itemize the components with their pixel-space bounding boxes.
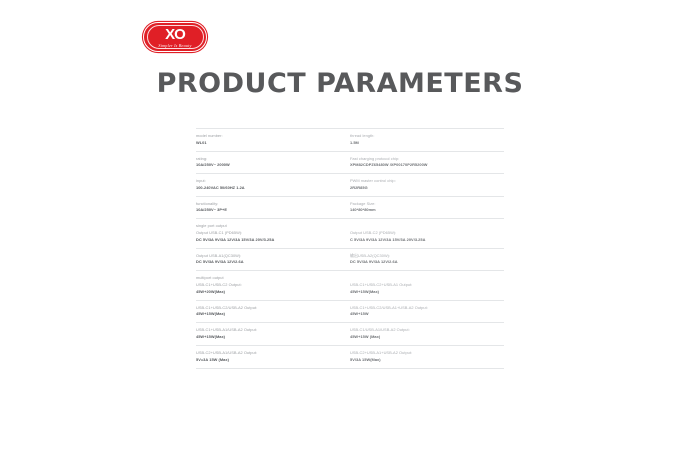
spec-label: USB-C1+USB-C2/USB-A2 Output:	[196, 305, 346, 312]
brand-logo: XO Simpler Is Beauty	[143, 22, 207, 52]
spec-label: Fast charging protocol chip:	[350, 156, 500, 163]
spec-value: C 5V/3A 9V/3A 12V/3A 15V/3A 20V/3.25A	[350, 237, 500, 244]
spec-cell-left: USB-C1+USB-C2 Output: 45W+20W(Max)	[196, 282, 350, 295]
spec-cell-left: Output USB-C1 (PD65W): DC 5V/3A 9V/3A 12…	[196, 230, 350, 243]
spec-value: 10A/250V~ 3P+E	[196, 207, 346, 214]
table-row: USB-C2+USB-A1/USB-A2 Output: 5V=3A 15W (…	[196, 346, 504, 369]
spec-cell-right: 输出USB-A2(QC30W): DC 5V/3A 9V/3A 12V/2.6A	[350, 253, 504, 266]
spec-value: 45W+20W(Max)	[196, 289, 346, 296]
spec-cell-left: Output USB-A1(QC30W): DC 5V/3A 9V/3A 12V…	[196, 253, 350, 266]
spec-cell-left: rating: 10A/250V~ 2000W	[196, 156, 350, 169]
spec-label: USB-C2+USB-A1/USB-A2 Output:	[196, 350, 346, 357]
section-heading-single-port: single port output	[196, 223, 504, 229]
spec-cell-left: functionality: 10A/250V~ 3P+E	[196, 201, 350, 214]
table-row: input: 100-240VAC 50/60HZ 1.2A PWM maste…	[196, 174, 504, 197]
spec-value: DC 5V/3A 9V/3A 12V/2.6A	[196, 259, 346, 266]
spec-label: Output USB-C1 (PD65W):	[196, 230, 346, 237]
spec-value: 5V/3A 15W(Max)	[350, 357, 500, 364]
spec-value: 1.5M	[350, 140, 500, 147]
spec-label: USB-C1+USB-C2/USB-A1+USB-A2 Output:	[350, 305, 500, 312]
spec-cell-right: Package Size: 140*80*80mm	[350, 201, 504, 214]
spec-cell-left: input: 100-240VAC 50/60HZ 1.2A	[196, 178, 350, 191]
spec-value: XPM82CDPZ65480W /XP00170P2R5200W	[350, 162, 500, 169]
section-heading-multiport: multiport output	[196, 275, 504, 281]
spec-value: 45W+15W(Max)	[196, 311, 346, 318]
table-row: rating: 10A/250V~ 2000W Fast charging pr…	[196, 152, 504, 175]
product-parameters-page: XO Simpler Is Beauty PRODUCT PARAMETERS …	[0, 0, 680, 450]
logo-wordmark: XO	[144, 27, 206, 42]
table-row: functionality: 10A/250V~ 3P+E Package Si…	[196, 197, 504, 220]
spec-table: model number: WL01 thread length: 1.5M r…	[196, 128, 504, 369]
logo-tagline: Simpler Is Beauty	[144, 43, 206, 48]
page-title: PRODUCT PARAMETERS	[0, 68, 680, 100]
spec-cell-right: USB-C2+USB-A1+USB-A2 Output: 5V/3A 15W(M…	[350, 350, 504, 363]
spec-cell-right: PWM master control chip: 2R2R85G	[350, 178, 504, 191]
spec-value: 45W+15W(Max)	[350, 289, 500, 296]
spec-label: USB-C1+USB-C2 Output:	[196, 282, 346, 289]
spec-label: USB-C2+USB-A1+USB-A2 Output:	[350, 350, 500, 357]
spec-value: 45W+15W	[350, 311, 500, 318]
spec-label: functionality:	[196, 201, 346, 208]
spec-cell-right: USB-C1+USB-C2/USB-A1+USB-A2 Output: 45W+…	[350, 305, 504, 318]
spec-cell-right: USB-C1/USB-A1/USB-A2 Output: 45W+15W (Ma…	[350, 327, 504, 340]
spec-cell-left: USB-C1+USB-C2/USB-A2 Output: 45W+15W(Max…	[196, 305, 350, 318]
spec-cell-right: USB-C1+USB-C2+USB-A1 Output: 45W+15W(Max…	[350, 282, 504, 295]
spec-label: USB-C1+USB-A1/USB-A2 Output:	[196, 327, 346, 334]
spec-label: input:	[196, 178, 346, 185]
spec-value: 5V=3A 15W (Max)	[196, 357, 346, 364]
spec-label: Package Size:	[350, 201, 500, 208]
spec-label: rating:	[196, 156, 346, 163]
spec-cell-right: Output USB-C2 (PD65W): C 5V/3A 9V/3A 12V…	[350, 230, 504, 243]
spec-value: 45W+15W(Max)	[196, 334, 346, 341]
spec-label: Output USB-A1(QC30W):	[196, 253, 346, 260]
spec-label: PWM master control chip:	[350, 178, 500, 185]
spec-cell-left: USB-C1+USB-A1/USB-A2 Output: 45W+15W(Max…	[196, 327, 350, 340]
spec-value: 100-240VAC 50/60HZ 1.2A	[196, 185, 346, 192]
spec-value: DC 5V/3A 9V/3A 12V/2.6A	[350, 259, 500, 266]
spec-value: 45W+15W (Max)	[350, 334, 500, 341]
spec-label: thread length:	[350, 133, 500, 140]
table-row-single-port: single port output Output USB-C1 (PD65W)…	[196, 219, 504, 248]
spec-cell-left: model number: WL01	[196, 133, 350, 146]
spec-cell-right: Fast charging protocol chip: XPM82CDPZ65…	[350, 156, 504, 169]
spec-label: USB-C1/USB-A1/USB-A2 Output:	[350, 327, 500, 334]
spec-value: 10A/250V~ 2000W	[196, 162, 346, 169]
spec-cell-right: thread length: 1.5M	[350, 133, 504, 146]
table-row: USB-C1+USB-C2/USB-A2 Output: 45W+15W(Max…	[196, 301, 504, 324]
spec-label: Output USB-C2 (PD65W):	[350, 230, 500, 237]
spec-value: 2R2R85G	[350, 185, 500, 192]
table-row: model number: WL01 thread length: 1.5M	[196, 128, 504, 152]
spec-label: model number:	[196, 133, 346, 140]
table-row: Output USB-A1(QC30W): DC 5V/3A 9V/3A 12V…	[196, 249, 504, 272]
spec-label: USB-C1+USB-C2+USB-A1 Output:	[350, 282, 500, 289]
table-row-multiport: multiport output USB-C1+USB-C2 Output: 4…	[196, 271, 504, 300]
spec-value: 140*80*80mm	[350, 207, 500, 214]
table-row: USB-C1+USB-A1/USB-A2 Output: 45W+15W(Max…	[196, 323, 504, 346]
spec-label: 输出USB-A2(QC30W):	[350, 253, 500, 260]
spec-value: DC 5V/3A 9V/3A 12V/3A 15V/3A 20V/3.25A	[196, 237, 346, 244]
spec-value: WL01	[196, 140, 346, 147]
logo-badge: XO Simpler Is Beauty	[143, 22, 207, 52]
spec-cell-left: USB-C2+USB-A1/USB-A2 Output: 5V=3A 15W (…	[196, 350, 350, 363]
